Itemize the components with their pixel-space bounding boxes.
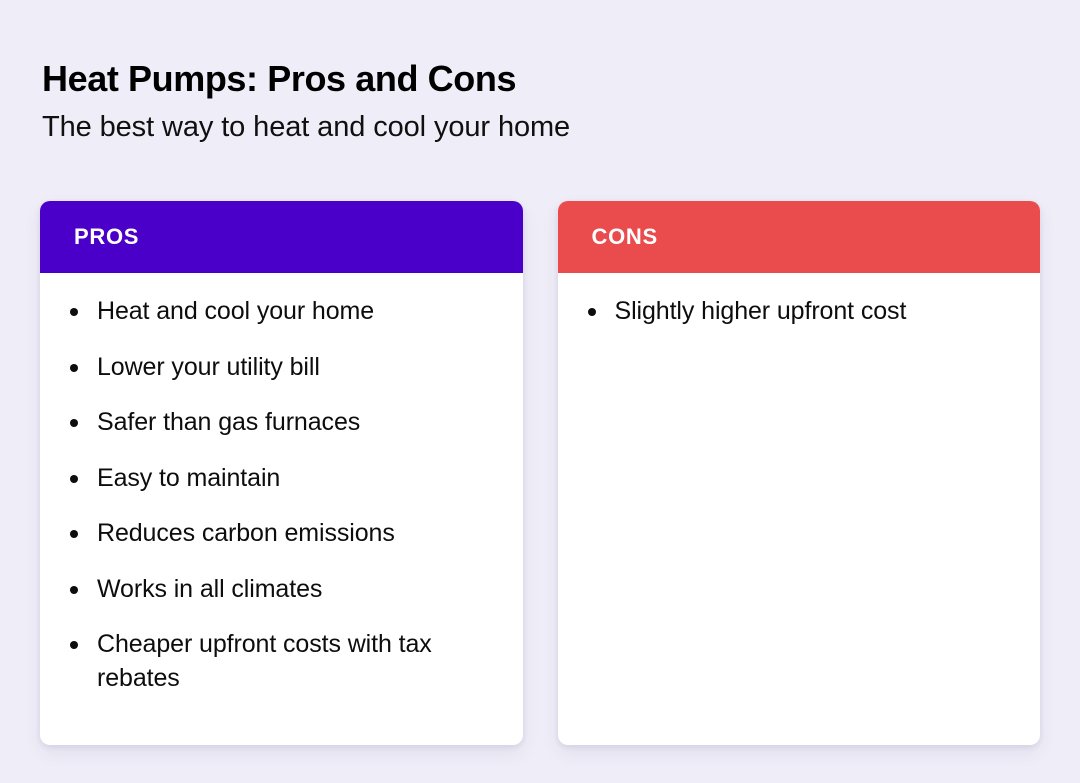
list-item: Lower your utility bill (70, 351, 493, 385)
list-item: Works in all climates (70, 573, 493, 607)
comparison-cards: PROS Heat and cool your home Lower your … (40, 201, 1040, 745)
cons-card-header: CONS (558, 201, 1041, 273)
list-item: Easy to maintain (70, 462, 493, 496)
list-item: Heat and cool your home (70, 295, 493, 329)
cons-card-header-label: CONS (592, 226, 658, 248)
list-item-label: Easy to maintain (97, 462, 493, 496)
list-item-label: Safer than gas furnaces (97, 406, 493, 440)
pros-card-header-label: PROS (74, 226, 139, 248)
list-item-label: Cheaper upfront costs with tax rebates (97, 628, 493, 695)
cons-list: Slightly higher upfront cost (588, 295, 1011, 329)
bullet-dot-icon (70, 475, 78, 483)
list-item: Safer than gas furnaces (70, 406, 493, 440)
infographic-page: Heat Pumps: Pros and Cons The best way t… (0, 0, 1080, 783)
page-subtitle: The best way to heat and cool your home (42, 110, 942, 145)
list-item-label: Slightly higher upfront cost (615, 295, 1011, 329)
bullet-dot-icon (70, 641, 78, 649)
list-item-label: Reduces carbon emissions (97, 517, 493, 551)
list-item: Slightly higher upfront cost (588, 295, 1011, 329)
list-item-label: Works in all climates (97, 573, 493, 607)
pros-card-body: Heat and cool your home Lower your utili… (40, 273, 523, 745)
cons-card-body: Slightly higher upfront cost (558, 273, 1041, 745)
pros-card-header: PROS (40, 201, 523, 273)
list-item-label: Heat and cool your home (97, 295, 493, 329)
bullet-dot-icon (70, 530, 78, 538)
header-block: Heat Pumps: Pros and Cons The best way t… (42, 58, 942, 145)
cons-card: CONS Slightly higher upfront cost (558, 201, 1041, 745)
list-item: Cheaper upfront costs with tax rebates (70, 628, 493, 695)
bullet-dot-icon (70, 308, 78, 316)
list-item-label: Lower your utility bill (97, 351, 493, 385)
bullet-dot-icon (70, 586, 78, 594)
pros-card: PROS Heat and cool your home Lower your … (40, 201, 523, 745)
page-title: Heat Pumps: Pros and Cons (42, 58, 942, 99)
bullet-dot-icon (70, 419, 78, 427)
list-item: Reduces carbon emissions (70, 517, 493, 551)
bullet-dot-icon (588, 308, 596, 316)
bullet-dot-icon (70, 364, 78, 372)
pros-list: Heat and cool your home Lower your utili… (70, 295, 493, 695)
